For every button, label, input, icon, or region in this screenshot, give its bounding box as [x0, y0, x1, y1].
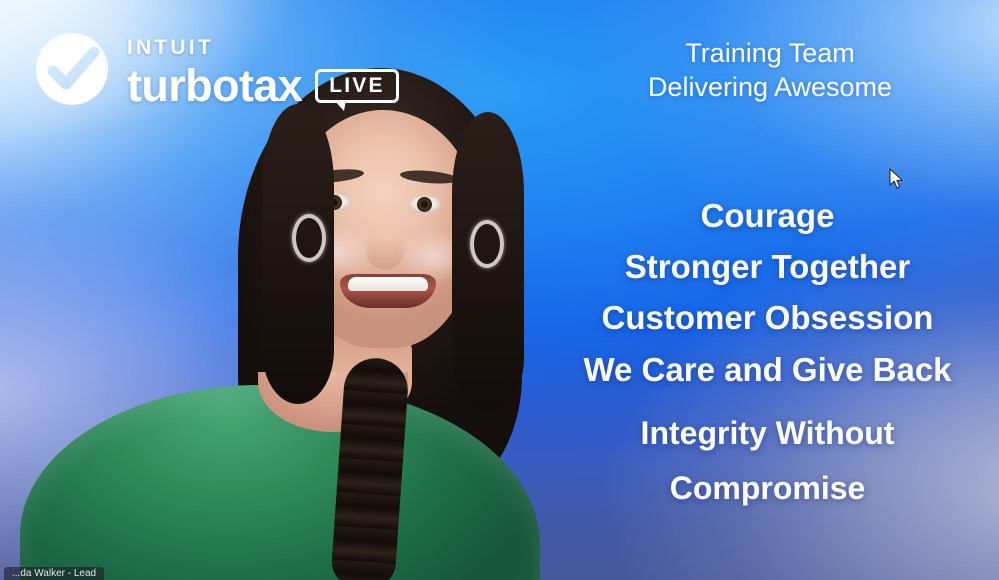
value-item-customer-obsession: Customer Obsession [545, 292, 990, 344]
eye-right [408, 195, 441, 214]
value-item-we-care-give-back: We Care and Give Back [545, 344, 990, 397]
nose [366, 218, 404, 270]
headline-line-1: Training Team [560, 36, 980, 70]
turbotax-row: turbotax LIVE [127, 63, 399, 108]
headline-line-2: Delivering Awesome [560, 70, 980, 104]
headline-block: Training Team Delivering Awesome [560, 36, 980, 104]
mouth [340, 274, 436, 308]
brand-logo-lockup: INTUIT turbotax LIVE [33, 30, 399, 108]
turbotax-wordmark: turbotax [127, 63, 302, 108]
values-list: Courage Stronger Together Customer Obses… [545, 190, 990, 514]
intuit-wordmark: INTUIT [127, 30, 399, 60]
live-badge: LIVE [315, 69, 398, 103]
video-call-frame: INTUIT turbotax LIVE Training Team Deliv… [0, 0, 999, 580]
earring-right [470, 220, 504, 268]
earring-left [292, 214, 326, 262]
value-item-integrity-line-1: Integrity Without [545, 403, 990, 464]
teeth [348, 277, 428, 291]
value-item-courage: Courage [545, 190, 990, 241]
check-circle-icon [33, 30, 111, 108]
participant-name-label: ...da Walker - Lead [4, 567, 104, 580]
value-item-integrity-line-2: Compromise [545, 464, 990, 514]
value-item-stronger-together: Stronger Together [545, 241, 990, 292]
brand-wordmark: INTUIT turbotax LIVE [127, 30, 399, 108]
arrow-pointer-icon [889, 168, 905, 190]
